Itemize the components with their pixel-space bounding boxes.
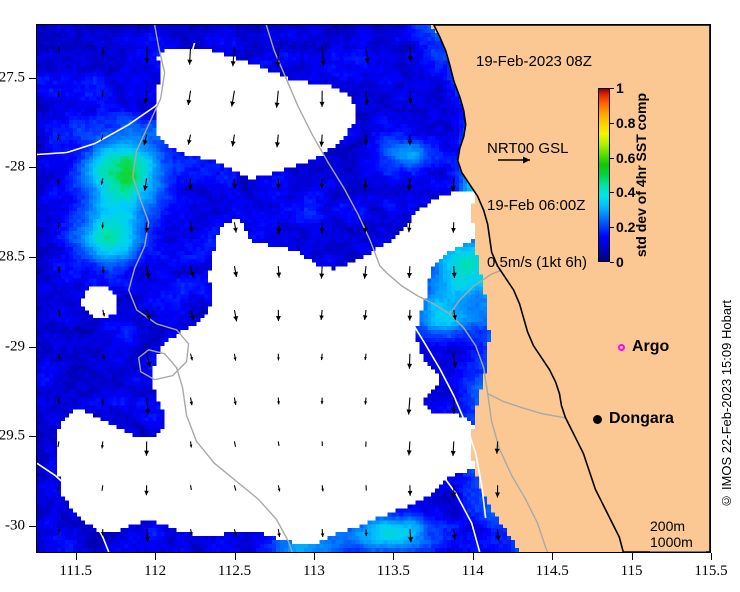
x-tickmark xyxy=(552,553,553,560)
colorbar-tickmark xyxy=(610,88,614,89)
x-tickmark xyxy=(393,553,394,560)
colorbar-tick-label: 0 xyxy=(616,254,624,270)
colorbar-tickmark xyxy=(610,123,614,124)
x-tickmark xyxy=(473,553,474,560)
x-tick-label: 113 xyxy=(303,563,325,580)
x-tick-label: 113.5 xyxy=(377,563,410,580)
colorbar-title: std dev of 4hr SST comp xyxy=(632,88,650,262)
y-tickmark xyxy=(29,347,36,348)
x-tick-label: 115.5 xyxy=(694,563,727,580)
y-tick-label: -27.5 xyxy=(0,69,25,86)
depth-key-rule xyxy=(650,551,706,552)
y-tickmark xyxy=(29,526,36,527)
y-tick-label: -28 xyxy=(0,159,25,176)
dongara-marker-icon xyxy=(593,415,602,424)
colorbar-tickmark xyxy=(610,158,614,159)
x-tickmark xyxy=(314,553,315,560)
x-tick-label: 111.5 xyxy=(59,563,92,580)
dongara-label: Dongara xyxy=(609,410,674,428)
y-tickmark xyxy=(29,436,36,437)
x-tickmark xyxy=(632,553,633,560)
x-tick-label: 112.5 xyxy=(218,563,251,580)
x-tick-label: 112 xyxy=(144,563,166,580)
y-tick-label: -30 xyxy=(0,518,25,535)
colorbar-tickmark xyxy=(610,227,614,228)
x-tick-label: 115 xyxy=(621,563,643,580)
vector-scale: 0.5m/s (1kt 6h) xyxy=(487,253,587,272)
y-tick-label: -29.5 xyxy=(0,428,25,445)
marker-argo[interactable]: Argo xyxy=(618,338,669,356)
depth-contour-key: 200m 1000m xyxy=(650,518,706,552)
argo-marker-icon xyxy=(618,344,625,351)
y-tick-label: -28.5 xyxy=(0,249,25,266)
x-tickmark xyxy=(711,553,712,560)
y-tickmark xyxy=(29,167,36,168)
x-tickmark xyxy=(155,553,156,560)
depth-200m-label: 200m xyxy=(650,518,706,534)
model-info-label: NRT00 GSL 19-Feb 06:00Z 0.5m/s (1kt 6h) xyxy=(487,101,587,310)
colorbar-gradient xyxy=(598,88,610,262)
timestamp-label: 19-Feb-2023 08Z xyxy=(476,53,592,70)
model-time: 19-Feb 06:00Z xyxy=(487,196,587,215)
y-tickmark xyxy=(29,78,36,79)
x-tick-label: 114 xyxy=(462,563,484,580)
marker-dongara[interactable]: Dongara xyxy=(593,410,674,428)
colorbar-tickmark xyxy=(610,192,614,193)
vector-key-arrow xyxy=(496,153,540,167)
argo-label: Argo xyxy=(632,338,669,356)
credit-text: © IMOS 22-Feb-2023 15:09 Hobart xyxy=(719,300,734,514)
x-tickmark xyxy=(76,553,77,560)
colorbar-tickmark xyxy=(610,262,614,263)
depth-1000m-label: 1000m xyxy=(650,534,706,550)
x-tick-label: 114.5 xyxy=(536,563,569,580)
colorbar-tick-label: 1 xyxy=(616,80,624,96)
y-tickmark xyxy=(29,257,36,258)
x-tickmark xyxy=(235,553,236,560)
y-tick-label: -29 xyxy=(0,338,25,355)
